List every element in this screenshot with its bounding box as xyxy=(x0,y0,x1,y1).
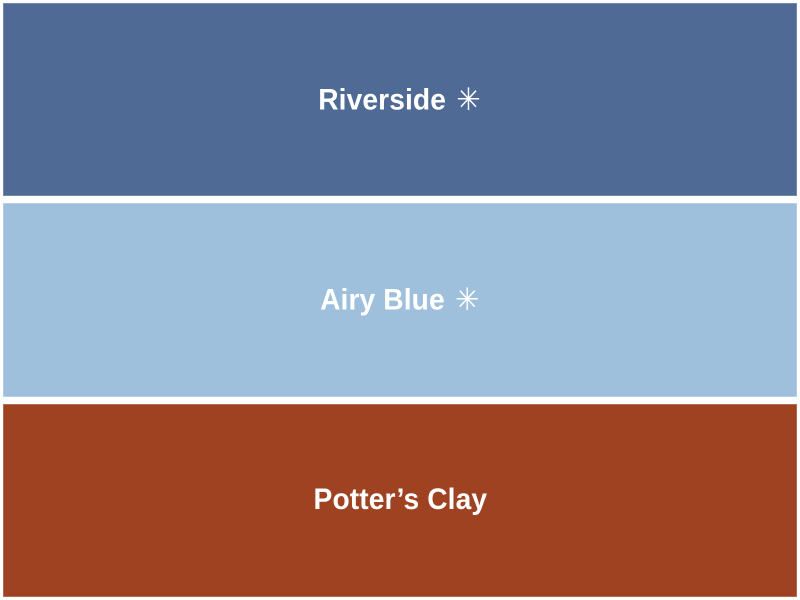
asterisk-icon: ✳ xyxy=(455,284,480,315)
swatch-label: Potter’s Clay xyxy=(313,485,487,515)
color-palette: Riverside✳ Airy Blue✳ Potter’s Clay xyxy=(0,0,800,600)
swatch-color-name: Riverside xyxy=(319,83,447,116)
swatch-label: Airy Blue✳ xyxy=(320,284,480,315)
color-swatch-riverside[interactable]: Riverside✳ xyxy=(3,3,797,196)
asterisk-icon: ✳ xyxy=(457,84,482,115)
swatch-label: Riverside✳ xyxy=(319,84,482,115)
color-swatch-airy-blue[interactable]: Airy Blue✳ xyxy=(3,203,797,396)
swatch-color-name: Airy Blue xyxy=(320,284,445,317)
color-swatch-potters-clay[interactable]: Potter’s Clay xyxy=(3,404,797,597)
swatch-color-name: Potter’s Clay xyxy=(313,483,487,516)
